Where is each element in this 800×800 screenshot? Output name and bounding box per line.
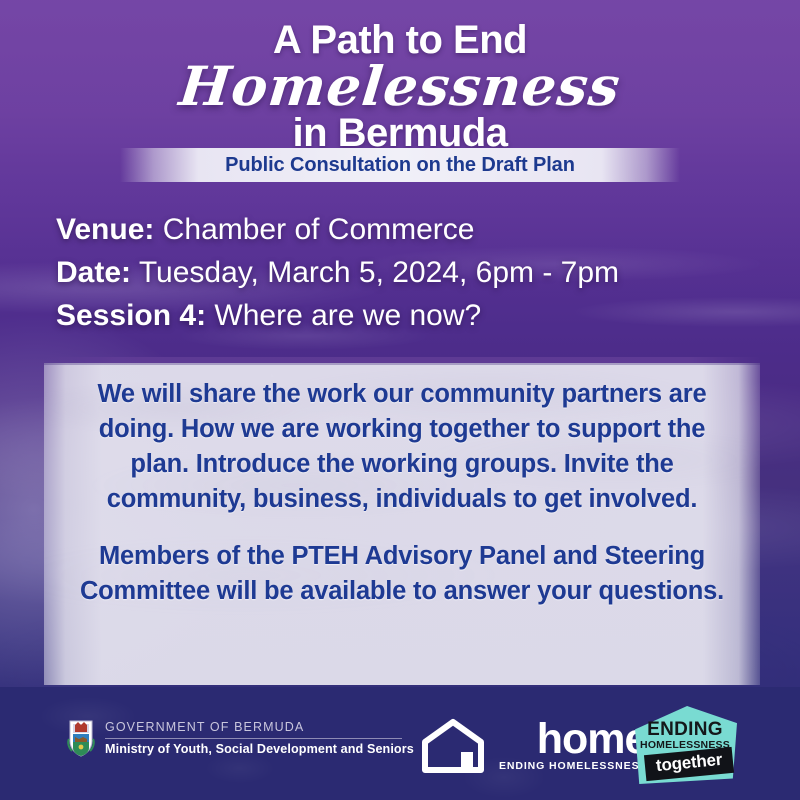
home-wordmark: home: [537, 719, 648, 759]
detail-label-session: Session 4:: [56, 299, 206, 332]
detail-label-date: Date:: [56, 256, 131, 289]
ending-homelessness-together-logo: ENDING HOMELESSNESS together: [633, 706, 737, 784]
house-outline-icon: [421, 718, 485, 774]
poster-title: A Path to End Homelessness in Bermuda: [0, 18, 800, 156]
bermuda-coat-of-arms-icon: [66, 717, 96, 759]
home-tagline: ENDING HOMELESSNESS: [499, 760, 647, 773]
detail-row-venue: Venue: Chamber of Commerce: [56, 208, 756, 251]
subtitle-banner-plate: Public Consultation on the Draft Plan: [120, 148, 680, 182]
eht-line-1: ENDING: [633, 720, 737, 739]
government-logo-ministry-line: Ministry of Youth, Social Development an…: [105, 742, 414, 757]
subtitle-banner-text: Public Consultation on the Draft Plan: [225, 154, 575, 177]
detail-row-date: Date: Tuesday, March 5, 2024, 6pm - 7pm: [56, 251, 756, 294]
poster-canvas: A Path to End Homelessness in Bermuda Pu…: [0, 0, 800, 800]
title-script-word: Homelessness: [0, 58, 800, 114]
detail-label-venue: Venue:: [56, 213, 154, 246]
event-details: Venue: Chamber of Commerce Date: Tuesday…: [56, 208, 756, 337]
home-logo: home ENDING HOMELESSNESS: [421, 718, 647, 774]
detail-value-session: Where are we now?: [214, 299, 481, 332]
body-paragraph-1: We will share the work our community par…: [70, 377, 734, 517]
body-card: We will share the work our community par…: [44, 363, 760, 685]
government-logo-divider: [105, 738, 402, 739]
government-of-bermuda-logo: GOVERNMENT OF BERMUDA Ministry of Youth,…: [66, 717, 414, 759]
body-paragraph-2: Members of the PTEH Advisory Panel and S…: [70, 539, 734, 609]
home-wordmark-group: home ENDING HOMELESSNESS: [499, 719, 647, 773]
subtitle-banner: Public Consultation on the Draft Plan: [0, 148, 800, 182]
detail-value-venue: Chamber of Commerce: [163, 213, 475, 246]
government-logo-text: GOVERNMENT OF BERMUDA Ministry of Youth,…: [105, 720, 414, 757]
detail-row-session: Session 4: Where are we now?: [56, 294, 756, 337]
government-logo-top-line: GOVERNMENT OF BERMUDA: [105, 720, 414, 735]
body-card-content: We will share the work our community par…: [44, 363, 760, 609]
detail-value-date: Tuesday, March 5, 2024, 6pm - 7pm: [139, 256, 619, 289]
